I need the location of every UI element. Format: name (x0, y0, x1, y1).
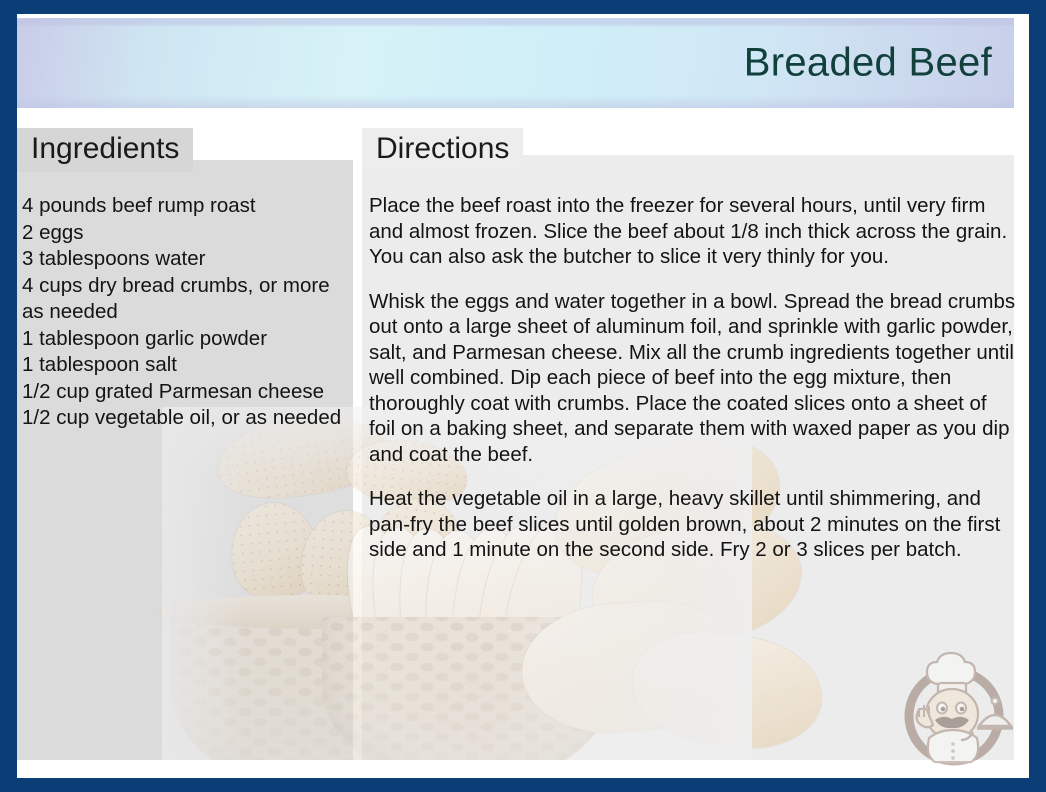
tab-ingredients[interactable]: Ingredients (17, 128, 193, 172)
list-item: 1/2 cup grated Parmesan cheese (22, 379, 352, 406)
list-item: 4 pounds beef rump roast (22, 193, 352, 220)
list-item: 1/2 cup vegetable oil, or as needed (22, 405, 352, 432)
direction-paragraph: Heat the vegetable oil in a large, heavy… (369, 486, 1017, 563)
recipe-card-frame: Breaded Beef (0, 0, 1046, 792)
tab-directions[interactable]: Directions (362, 128, 523, 172)
list-item: 4 cups dry bread crumbs, or more as need… (22, 273, 352, 326)
page-title: Breaded Beef (744, 41, 992, 86)
list-item: 2 eggs (22, 220, 352, 247)
direction-paragraph: Place the beef roast into the freezer fo… (369, 193, 1017, 270)
ingredients-list: 4 pounds beef rump roast 2 eggs 3 tables… (22, 193, 352, 432)
direction-paragraph: Whisk the eggs and water together in a b… (369, 289, 1017, 468)
list-item: 3 tablespoons water (22, 246, 352, 273)
chef-logo (893, 650, 1015, 768)
list-item: 1 tablespoon garlic powder (22, 326, 352, 353)
list-item: 1 tablespoon salt (22, 352, 352, 379)
directions-text: Place the beef roast into the freezer fo… (369, 193, 1017, 563)
header-banner: Breaded Beef (17, 18, 1014, 108)
